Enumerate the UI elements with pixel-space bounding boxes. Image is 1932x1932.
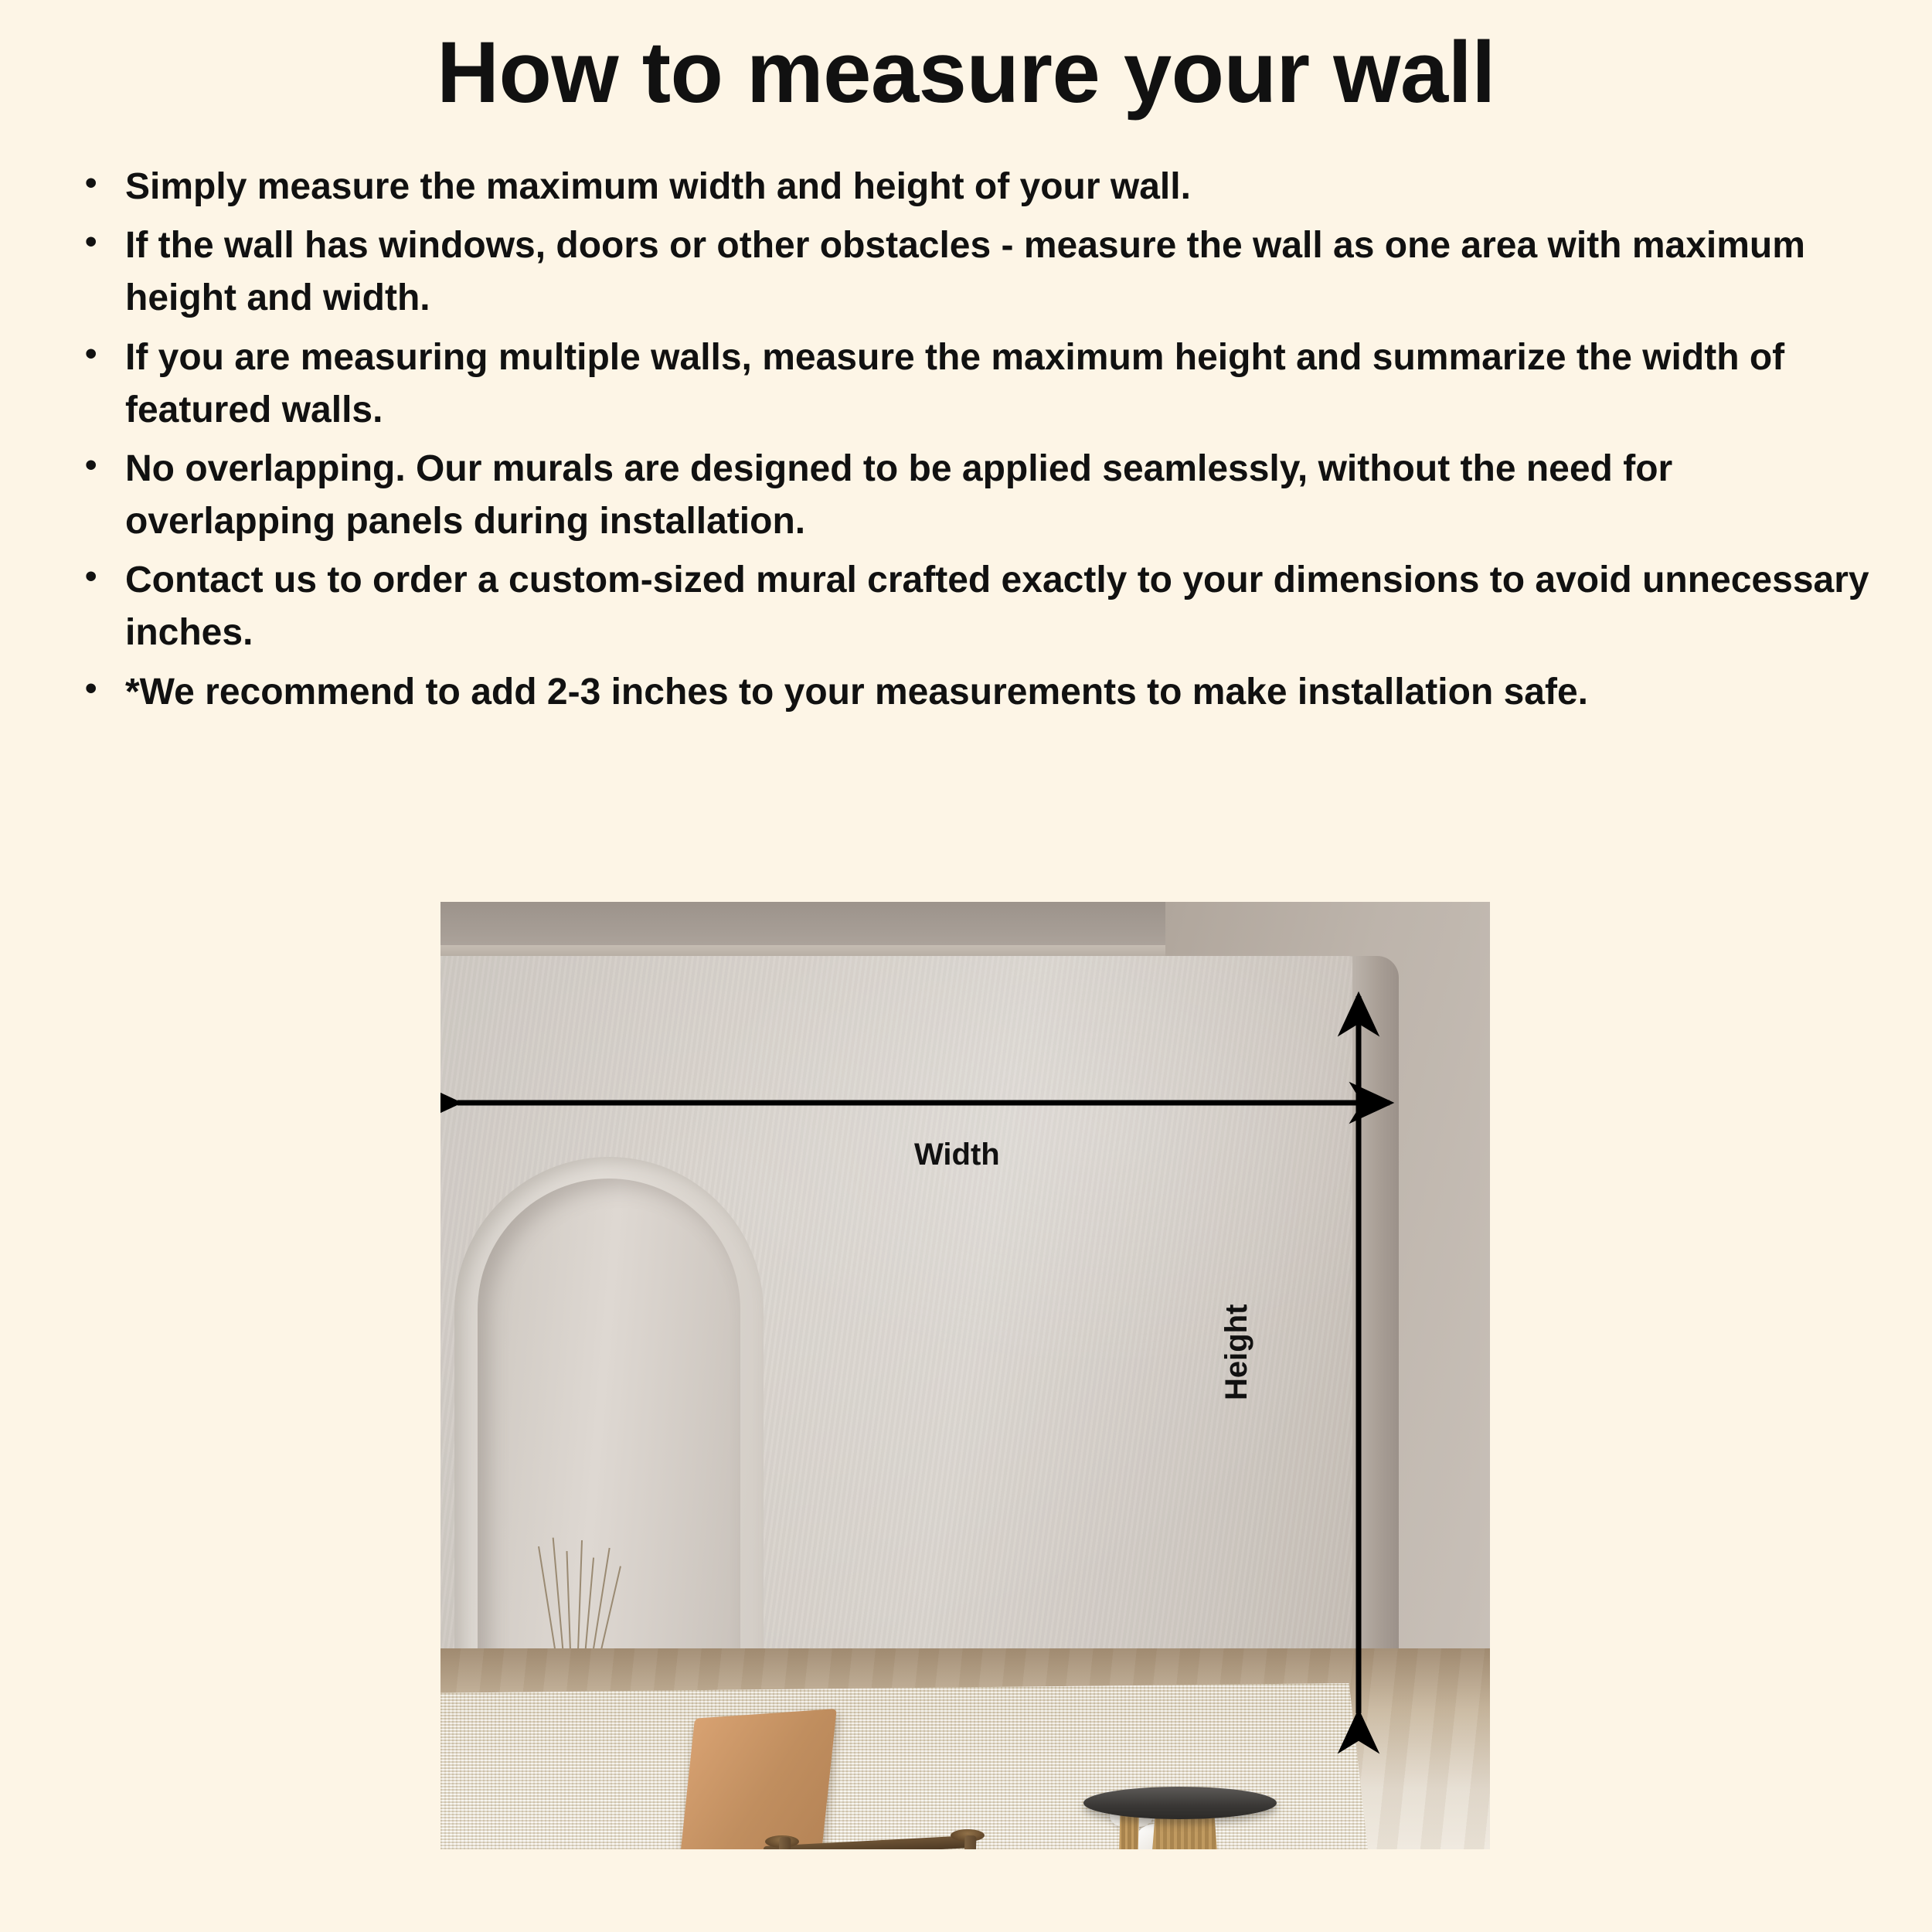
list-item: If the wall has windows, doors or other … (85, 219, 1878, 325)
room-illustration: Width Height (440, 902, 1490, 1849)
leather-sling-chair (592, 1706, 994, 1849)
list-item: Simply measure the maximum width and hei… (85, 161, 1878, 213)
chair-backrest (670, 1709, 837, 1849)
list-item: No overlapping. Our murals are designed … (85, 443, 1878, 548)
room-scene: Width Height (440, 902, 1490, 1849)
poster-page: How to measure your wall Simply measure … (0, 0, 1932, 1932)
instructions-list: Simply measure the maximum width and hei… (0, 161, 1932, 719)
table-top (1083, 1787, 1277, 1819)
list-item: *We recommend to add 2-3 inches to your … (85, 666, 1878, 719)
list-item: Contact us to order a custom-sized mural… (85, 554, 1878, 659)
list-item: If you are measuring multiple walls, mea… (85, 332, 1878, 437)
round-side-table (1083, 1787, 1277, 1849)
page-title: How to measure your wall (0, 0, 1932, 124)
